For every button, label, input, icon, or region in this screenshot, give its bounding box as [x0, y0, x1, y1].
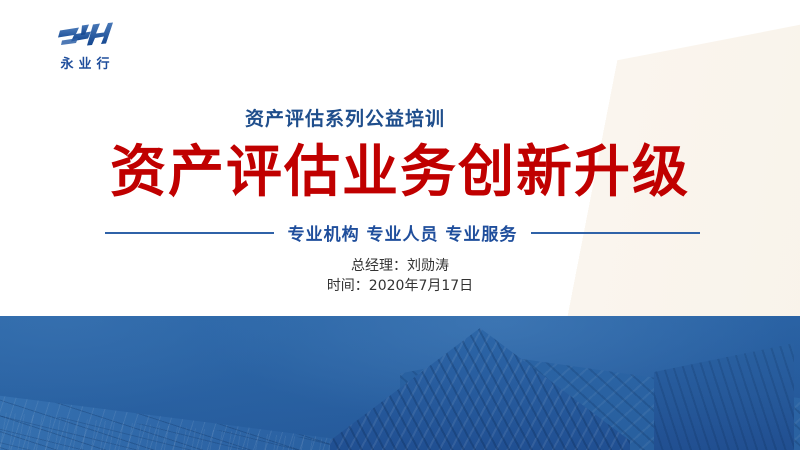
presenter-name: 总经理：刘勋涛: [0, 256, 800, 276]
presenter-meta: 总经理：刘勋涛 时间：2020年7月17日: [0, 256, 800, 296]
yh-monogram-icon: [56, 20, 114, 50]
tagline-rule-right: [531, 232, 700, 234]
series-subtitle: 资产评估系列公益培训: [0, 104, 800, 131]
tagline-text: 专业机构 专业人员 专业服务: [288, 220, 518, 245]
company-logo: 永业行: [42, 20, 128, 72]
band-blue-overlay: [0, 316, 800, 450]
company-wordmark: 永业行: [42, 53, 128, 72]
slide-main-title: 资产评估业务创新升级: [0, 142, 800, 204]
tagline-rule-left: [105, 232, 274, 234]
building-photo-band: [0, 316, 800, 450]
tagline-row: 专业机构 专业人员 专业服务: [105, 220, 700, 245]
presentation-date: 时间：2020年7月17日: [0, 276, 800, 296]
presentation-title-slide: 永业行 资产评估系列公益培训 资产评估业务创新升级 专业机构 专业人员 专业服务…: [0, 0, 800, 450]
